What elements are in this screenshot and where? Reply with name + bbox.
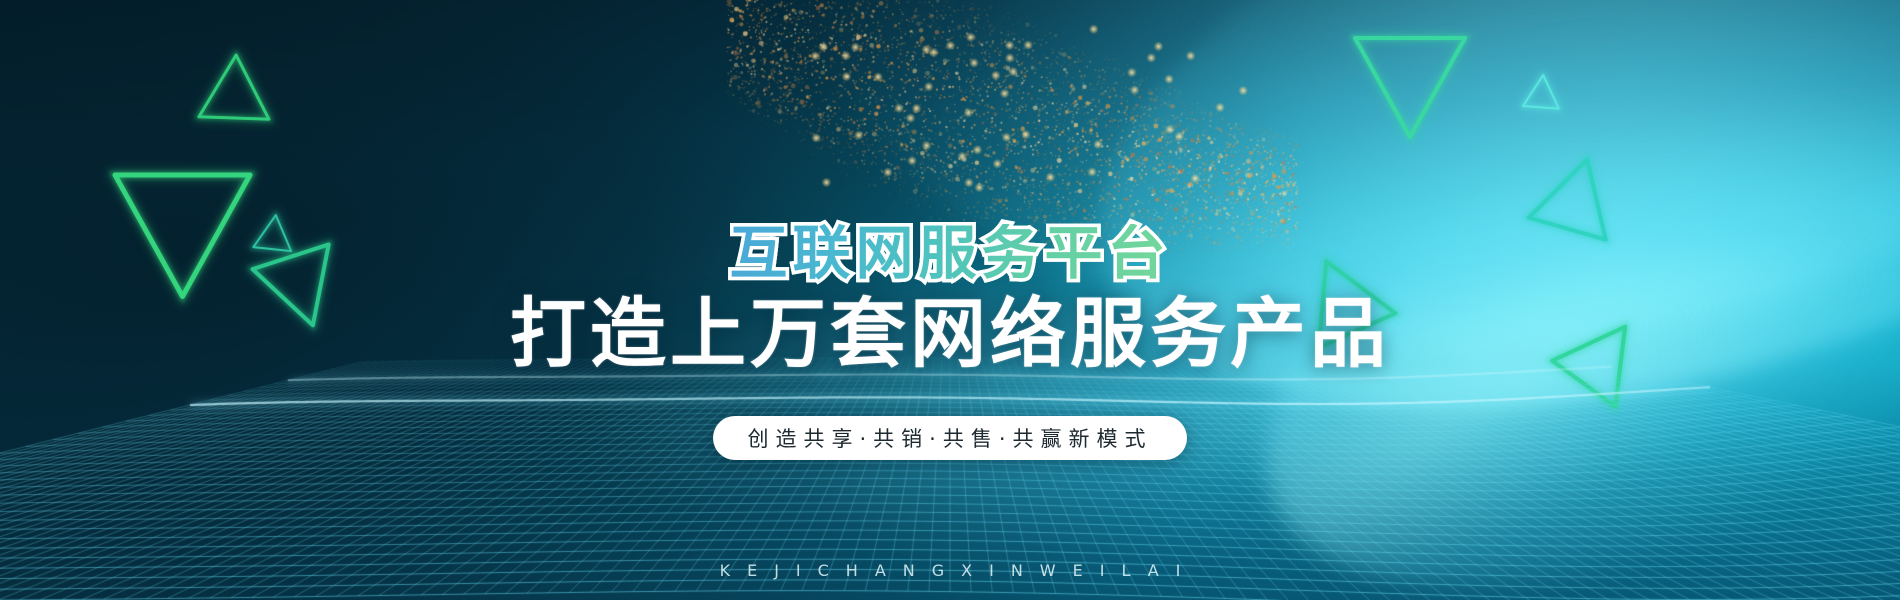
- background-top-shade: [0, 0, 1900, 600]
- hero-banner: 互联网服务平台 互联网服务平台 打造上万套网络服务产品 创造共享·共销·共售·共…: [0, 0, 1900, 600]
- subtitle-pill[interactable]: 创造共享·共销·共售·共赢新模式: [713, 416, 1186, 460]
- watermark-pinyin: KEJICHANGXINWEILAI: [0, 561, 1900, 580]
